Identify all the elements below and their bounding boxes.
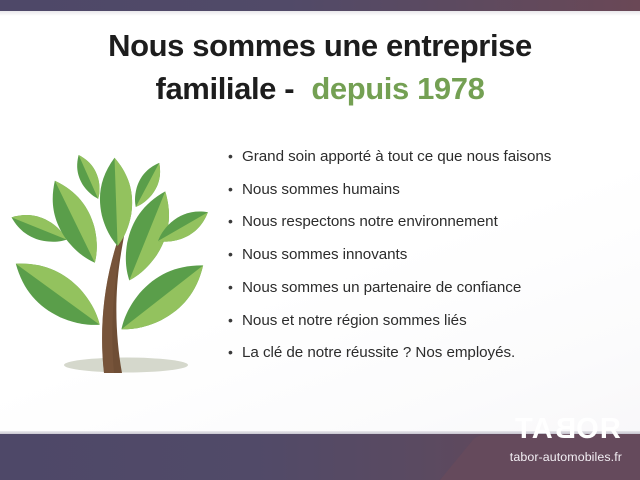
tree-leaf-right-lower xyxy=(110,251,208,345)
bullet-icon: • xyxy=(228,313,242,327)
slide-canvas: Nous sommes une entreprise familiale - d… xyxy=(0,0,640,480)
list-item-label: Grand soin apporté à tout ce que nous fa… xyxy=(242,148,628,166)
brand-website-url[interactable]: tabor-automobiles.fr xyxy=(510,451,622,463)
list-item-label: Nous sommes un partenaire de confiance xyxy=(242,279,628,297)
brand-logo[interactable]: TABOR tabor-automobiles.fr xyxy=(510,415,622,463)
top-accent-bar xyxy=(0,0,640,11)
list-item: • Nous et notre région sommes liés xyxy=(228,312,628,330)
bullet-icon: • xyxy=(228,247,242,261)
top-accent-bar-shadow xyxy=(0,11,640,16)
tree-leaf-left-lower xyxy=(8,249,111,340)
list-item-label: La clé de notre réussite ? Nos employés. xyxy=(242,344,628,362)
bullet-icon: • xyxy=(228,280,242,294)
list-item: • Grand soin apporté à tout ce que nous … xyxy=(228,148,628,166)
list-item: • Nous respectons notre environnement xyxy=(228,213,628,231)
brand-wordmark-mirrored-b: B xyxy=(554,415,576,444)
list-item: • Nous sommes humains xyxy=(228,181,628,199)
tree-illustration xyxy=(8,148,208,383)
bullet-icon: • xyxy=(228,345,242,359)
bullet-icon: • xyxy=(228,149,242,163)
bullet-icon: • xyxy=(228,182,242,196)
heading-accent-since-year: depuis 1978 xyxy=(311,71,484,106)
tree-leaf-top-center xyxy=(98,157,133,246)
value-proposition-list: • Grand soin apporté à tout ce que nous … xyxy=(228,148,628,377)
list-item: • Nous sommes un partenaire de confiance xyxy=(228,279,628,297)
brand-wordmark-prefix: TA xyxy=(515,413,554,445)
bullet-icon: • xyxy=(228,214,242,228)
list-item-label: Nous sommes innovants xyxy=(242,246,628,264)
logo-block: TABOR tabor-automobiles.fr xyxy=(400,407,640,480)
heading-line-1: Nous sommes une entreprise xyxy=(0,25,640,68)
slide-heading: Nous sommes une entreprise familiale - d… xyxy=(0,25,640,111)
heading-line-2: familiale - depuis 1978 xyxy=(0,68,640,111)
list-item: • La clé de notre réussite ? Nos employé… xyxy=(228,344,628,362)
tree-illustration-svg xyxy=(8,148,208,383)
list-item-label: Nous et notre région sommes liés xyxy=(242,312,628,330)
heading-line-2-plain: familiale - xyxy=(156,71,303,106)
brand-wordmark-suffix: OR xyxy=(576,413,622,445)
tree-ground-shadow xyxy=(64,358,188,373)
list-item: • Nous sommes innovants xyxy=(228,246,628,264)
brand-wordmark: TABOR xyxy=(510,415,622,444)
list-item-label: Nous sommes humains xyxy=(242,181,628,199)
list-item-label: Nous respectons notre environnement xyxy=(242,213,628,231)
